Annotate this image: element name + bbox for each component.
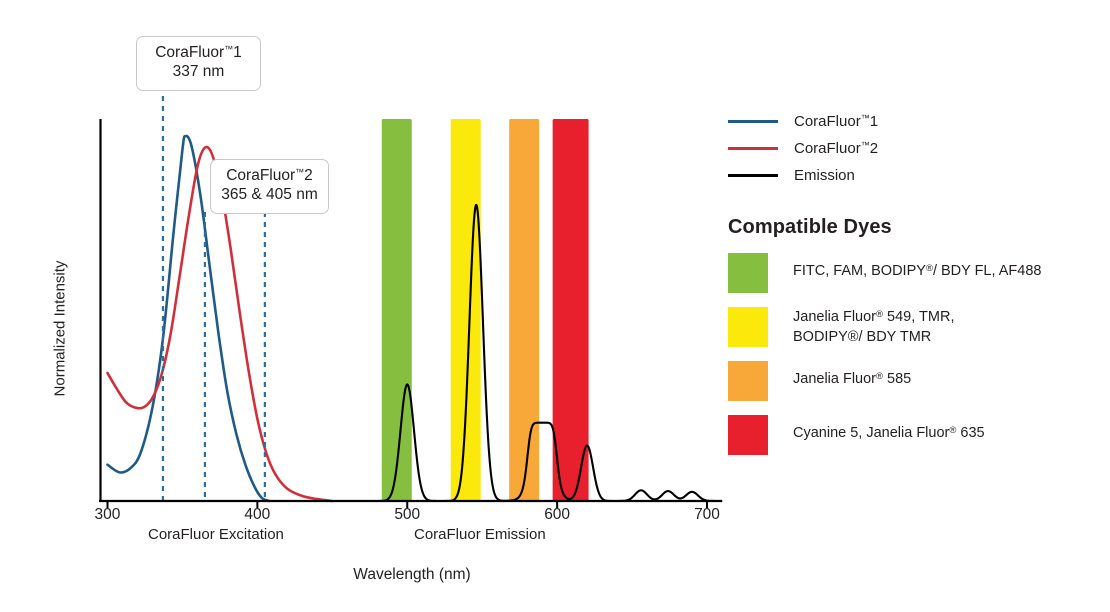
legend-line-swatch-0 bbox=[728, 120, 778, 123]
chart-page: CoraFluor™1 337 nm CoraFluor™2 365 & 405… bbox=[0, 0, 1110, 612]
compatible-dyes-list: FITC, FAM, BODIPY®/ BDY FL, AF488Janelia… bbox=[728, 253, 1100, 455]
dye-color-swatch-2 bbox=[728, 361, 768, 401]
x-tick-label-400: 400 bbox=[227, 506, 287, 524]
y-axis-title: Normalized Intensity bbox=[52, 229, 69, 429]
dye-legend-row-3: Cyanine 5, Janelia Fluor® 635 bbox=[728, 415, 1100, 455]
legend-series-row-0: CoraFluor™1 bbox=[728, 108, 1100, 135]
legend-series-label-2: Emission bbox=[794, 167, 855, 184]
series-legend: CoraFluor™1CoraFluor™2Emission bbox=[728, 108, 1100, 189]
band-region-3 bbox=[553, 119, 589, 501]
legend-line-swatch-1 bbox=[728, 147, 778, 150]
dye-legend-row-0: FITC, FAM, BODIPY®/ BDY FL, AF488 bbox=[728, 253, 1100, 293]
dye-legend-label-1: Janelia Fluor® 549, TMR, BODIPY®/ BDY TM… bbox=[793, 307, 954, 347]
legend-series-label-0: CoraFluor™1 bbox=[794, 113, 878, 130]
band-region-2 bbox=[509, 119, 539, 501]
dye-legend-label-0: FITC, FAM, BODIPY®/ BDY FL, AF488 bbox=[793, 253, 1041, 282]
x-axis-title: Wavelength (nm) bbox=[0, 566, 824, 584]
band-region-1 bbox=[451, 119, 481, 501]
band-regions-group bbox=[382, 119, 589, 501]
x-tick-label-600: 600 bbox=[527, 506, 587, 524]
callout-corafluor2-line1: CoraFluor™2 bbox=[221, 167, 318, 186]
callout-corafluor1-line1: CoraFluor™1 bbox=[147, 44, 250, 63]
x-tick-label-700: 700 bbox=[677, 506, 737, 524]
x-tick-label-500: 500 bbox=[377, 506, 437, 524]
x-tick-label-300: 300 bbox=[77, 506, 137, 524]
dye-legend-label-3: Cyanine 5, Janelia Fluor® 635 bbox=[793, 415, 985, 444]
callout-corafluor2-line2: 365 & 405 nm bbox=[221, 186, 318, 205]
legend-series-row-1: CoraFluor™2 bbox=[728, 135, 1100, 162]
emission-region-label: CoraFluor Emission bbox=[414, 526, 546, 543]
callout-corafluor1: CoraFluor™1 337 nm bbox=[136, 36, 261, 91]
legend-panel: CoraFluor™1CoraFluor™2Emission Compatibl… bbox=[728, 108, 1100, 455]
legend-series-row-2: Emission bbox=[728, 162, 1100, 189]
legend-series-label-1: CoraFluor™2 bbox=[794, 140, 878, 157]
dye-legend-label-2: Janelia Fluor® 585 bbox=[793, 361, 911, 390]
dye-color-swatch-3 bbox=[728, 415, 768, 455]
legend-line-swatch-2 bbox=[728, 174, 778, 177]
callout-corafluor1-line2: 337 nm bbox=[147, 63, 250, 82]
compatible-dyes-heading: Compatible Dyes bbox=[728, 216, 1100, 239]
excitation-region-label: CoraFluor Excitation bbox=[148, 526, 284, 543]
dye-legend-row-2: Janelia Fluor® 585 bbox=[728, 361, 1100, 401]
band-region-0 bbox=[382, 119, 412, 501]
dye-legend-row-1: Janelia Fluor® 549, TMR, BODIPY®/ BDY TM… bbox=[728, 307, 1100, 347]
dye-color-swatch-0 bbox=[728, 253, 768, 293]
dye-color-swatch-1 bbox=[728, 307, 768, 347]
callout-corafluor2: CoraFluor™2 365 & 405 nm bbox=[210, 159, 329, 214]
